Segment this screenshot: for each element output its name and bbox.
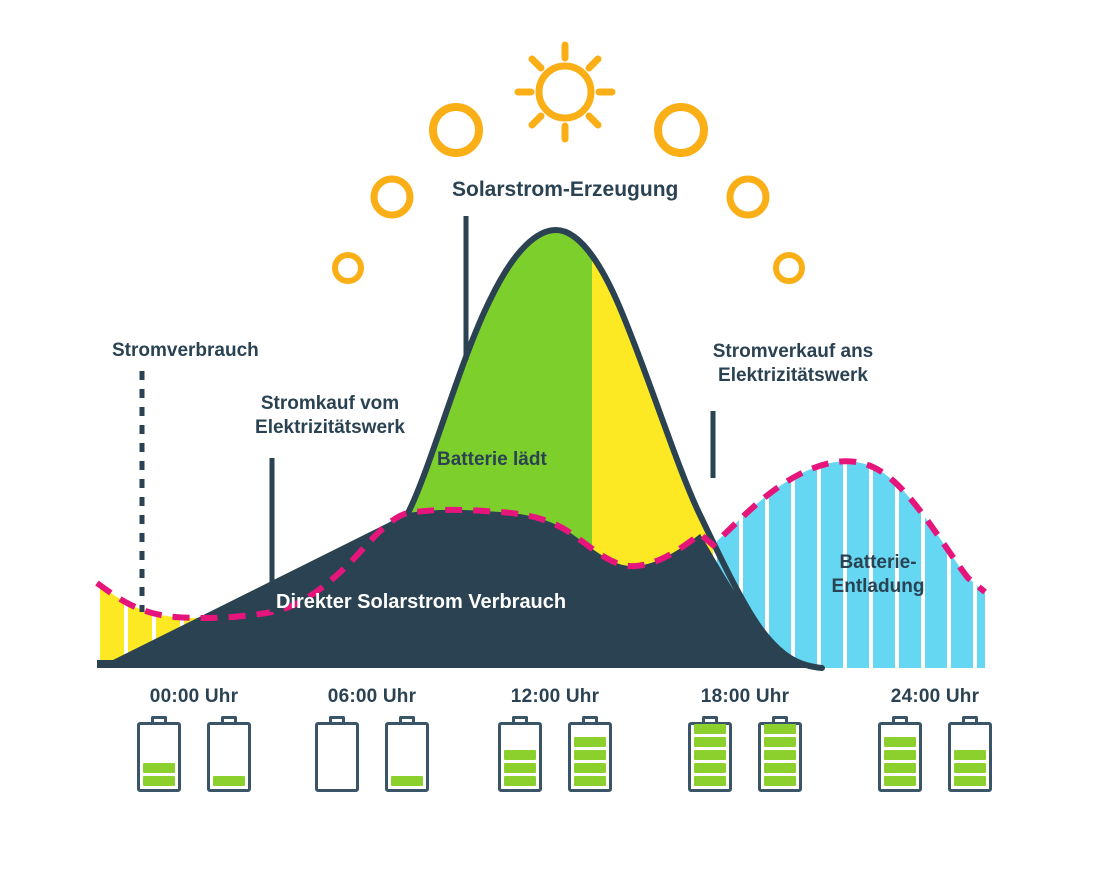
- label-power-sale: Stromverkauf ans Elektrizitätswerk: [697, 340, 889, 388]
- battery-icon: [948, 716, 992, 792]
- battery-segment-filled: [574, 750, 606, 760]
- time-label: 24:00 Uhr: [835, 686, 1035, 708]
- battery-icon: [498, 716, 542, 792]
- battery-body: [385, 722, 429, 792]
- battery-segment-filled: [391, 776, 423, 786]
- sun-icon: [518, 45, 612, 139]
- battery-segment-filled: [954, 750, 986, 760]
- battery-body: [498, 722, 542, 792]
- label-power-consumption: Stromverbrauch: [112, 339, 259, 363]
- battery-segment-filled: [764, 776, 796, 786]
- label-direct-consumption: Direkter Solarstrom Verbrauch: [276, 590, 566, 615]
- battery-body: [568, 722, 612, 792]
- battery-segment-filled: [694, 724, 726, 734]
- battery-segment-filled: [574, 776, 606, 786]
- battery-segment-filled: [504, 750, 536, 760]
- battery-segment-filled: [764, 750, 796, 760]
- battery-pair: [835, 716, 1035, 792]
- battery-body: [315, 722, 359, 792]
- battery-pair: [94, 716, 294, 792]
- battery-pair: [455, 716, 655, 792]
- timeline-group: 06:00 Uhr: [272, 686, 472, 792]
- battery-icon: [688, 716, 732, 792]
- battery-segment-filled: [694, 776, 726, 786]
- battery-segment-filled: [213, 776, 245, 786]
- battery-segment-filled: [884, 763, 916, 773]
- battery-segment-filled: [574, 763, 606, 773]
- timeline-group: 12:00 Uhr: [455, 686, 655, 792]
- label-battery-charging: Batterie lädt: [437, 448, 547, 472]
- battery-body: [758, 722, 802, 792]
- battery-segment-filled: [504, 776, 536, 786]
- battery-pair: [272, 716, 472, 792]
- battery-body: [207, 722, 251, 792]
- battery-segment-filled: [764, 724, 796, 734]
- battery-segment-filled: [884, 750, 916, 760]
- battery-icon: [758, 716, 802, 792]
- battery-pair: [645, 716, 845, 792]
- battery-segment-filled: [954, 763, 986, 773]
- timeline-group: 18:00 Uhr: [645, 686, 845, 792]
- label-solar-generation: Solarstrom-Erzeugung: [452, 177, 678, 203]
- battery-body: [137, 722, 181, 792]
- time-label: 12:00 Uhr: [455, 686, 655, 708]
- battery-icon: [568, 716, 612, 792]
- time-label: 18:00 Uhr: [645, 686, 845, 708]
- label-battery-discharge: Batterie- Entladung: [826, 551, 930, 599]
- time-label: 06:00 Uhr: [272, 686, 472, 708]
- battery-icon: [315, 716, 359, 792]
- battery-segment-filled: [694, 750, 726, 760]
- infographic-canvas: Solarstrom-Erzeugung Stromverbrauch Stro…: [0, 0, 1100, 873]
- battery-body: [688, 722, 732, 792]
- battery-segment-filled: [143, 776, 175, 786]
- battery-icon: [207, 716, 251, 792]
- battery-segment-filled: [574, 737, 606, 747]
- battery-segment-filled: [694, 763, 726, 773]
- battery-segment-filled: [764, 737, 796, 747]
- battery-segment-filled: [884, 737, 916, 747]
- timeline-group: 24:00 Uhr: [835, 686, 1035, 792]
- battery-icon: [385, 716, 429, 792]
- battery-segment-filled: [143, 763, 175, 773]
- battery-segment-filled: [954, 776, 986, 786]
- battery-body: [878, 722, 922, 792]
- battery-segment-filled: [694, 737, 726, 747]
- battery-segment-filled: [764, 763, 796, 773]
- battery-segment-filled: [504, 763, 536, 773]
- battery-segment-filled: [884, 776, 916, 786]
- label-power-purchase: Stromkauf vom Elektrizitätswerk: [246, 392, 414, 440]
- battery-body: [948, 722, 992, 792]
- timeline-row: 00:00 Uhr06:00 Uhr12:00 Uhr18:00 Uhr24:0…: [0, 686, 1100, 816]
- battery-icon: [878, 716, 922, 792]
- timeline-group: 00:00 Uhr: [94, 686, 294, 792]
- battery-icon: [137, 716, 181, 792]
- time-label: 00:00 Uhr: [94, 686, 294, 708]
